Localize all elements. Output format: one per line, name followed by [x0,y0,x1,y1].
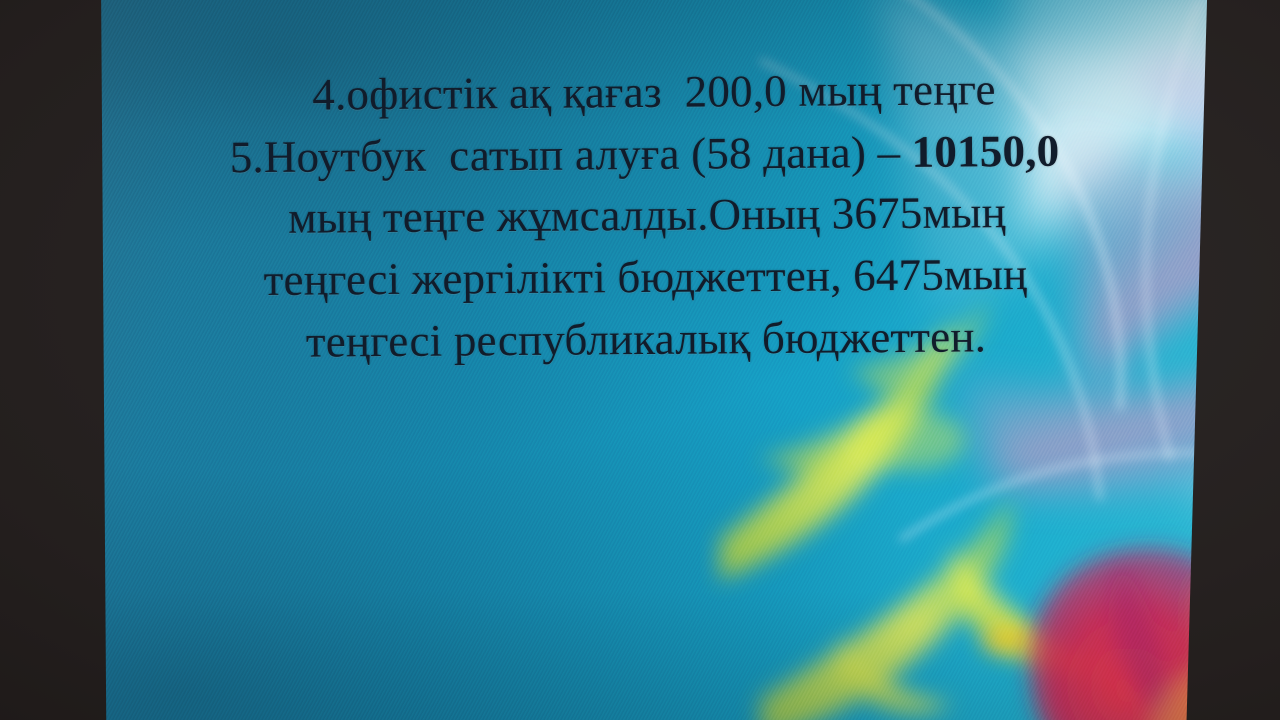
bold-amount-value: 10150,0 [911,125,1059,176]
slide-line-2-text: 5.Ноутбук сатып алуға (58 дана) – [230,127,912,182]
slide-line-4: теңгесі жергілікті бюджеттен, 6475мың [120,243,1170,313]
slide-surface: 4.офистік ақ қағаз 200,0 мың теңге 5.Ноу… [0,0,1280,720]
slide-line-5: теңгесі республикалық бюджеттен. [121,304,1171,374]
slide-line-3: мың теңге жұмсалды.Оның 3675мың [120,181,1170,251]
projected-slide-photo: 4.офистік ақ қағаз 200,0 мың теңге 5.Ноу… [0,0,1280,720]
slide-body-text: 4.офистік ақ қағаз 200,0 мың теңге 5.Ноу… [119,58,1171,374]
slide-line-2: 5.Ноутбук сатып алуға (58 дана) – 10150,… [119,120,1169,190]
slide-line-1: 4.офистік ақ қағаз 200,0 мың теңге [119,58,1169,128]
